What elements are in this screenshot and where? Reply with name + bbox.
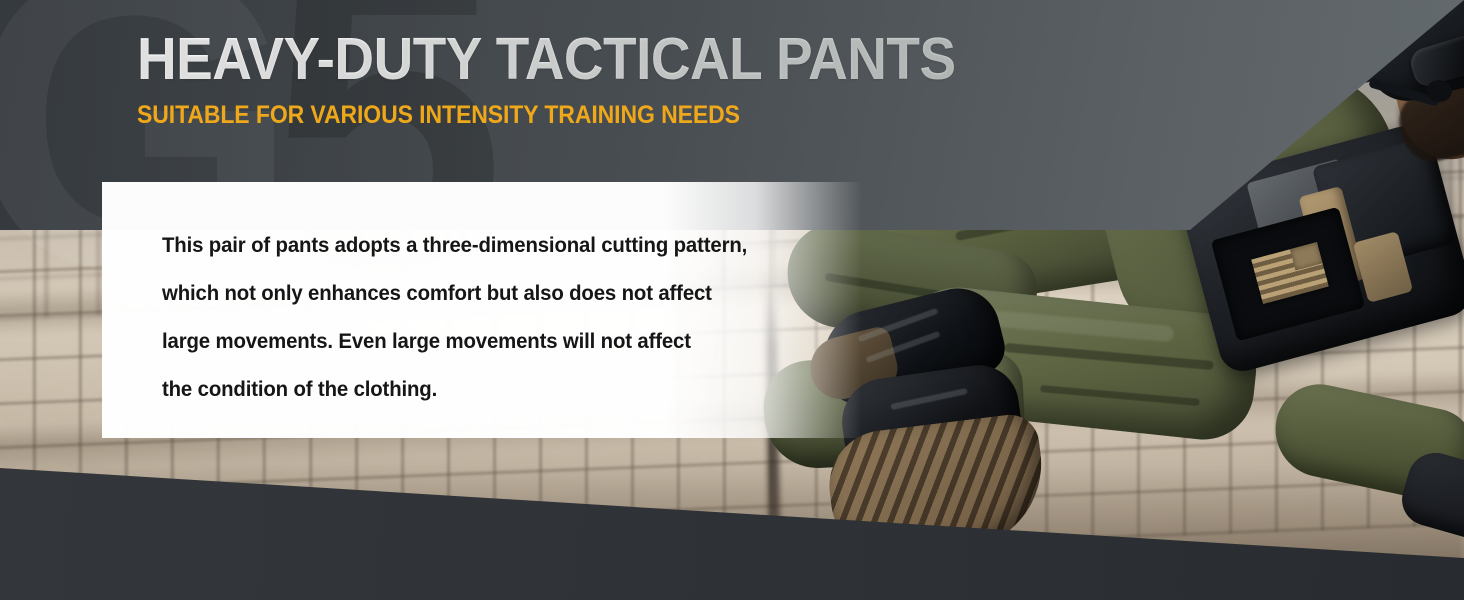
description-line: which not only enhances comfort but also… bbox=[162, 270, 802, 318]
description-line: This pair of pants adopts a three-dimens… bbox=[162, 222, 802, 270]
boom-microphone-tip bbox=[1426, 80, 1452, 102]
description-line: the condition of the clothing. bbox=[162, 366, 802, 414]
heading-block: HEAVY-DUTY TACTICAL PANTS SUITABLE FOR V… bbox=[137, 30, 1017, 130]
description-text: This pair of pants adopts a three-dimens… bbox=[162, 222, 802, 414]
description-line: large movements. Even large movements wi… bbox=[162, 318, 802, 366]
description-panel: This pair of pants adopts a three-dimens… bbox=[102, 182, 862, 438]
page-subtitle: SUITABLE FOR VARIOUS INTENSITY TRAINING … bbox=[137, 101, 947, 130]
page-title: HEAVY-DUTY TACTICAL PANTS bbox=[137, 30, 956, 89]
promo-banner: G5 HEAVY-DUTY TACTICAL PANTS SUITABLE FO… bbox=[0, 0, 1464, 600]
